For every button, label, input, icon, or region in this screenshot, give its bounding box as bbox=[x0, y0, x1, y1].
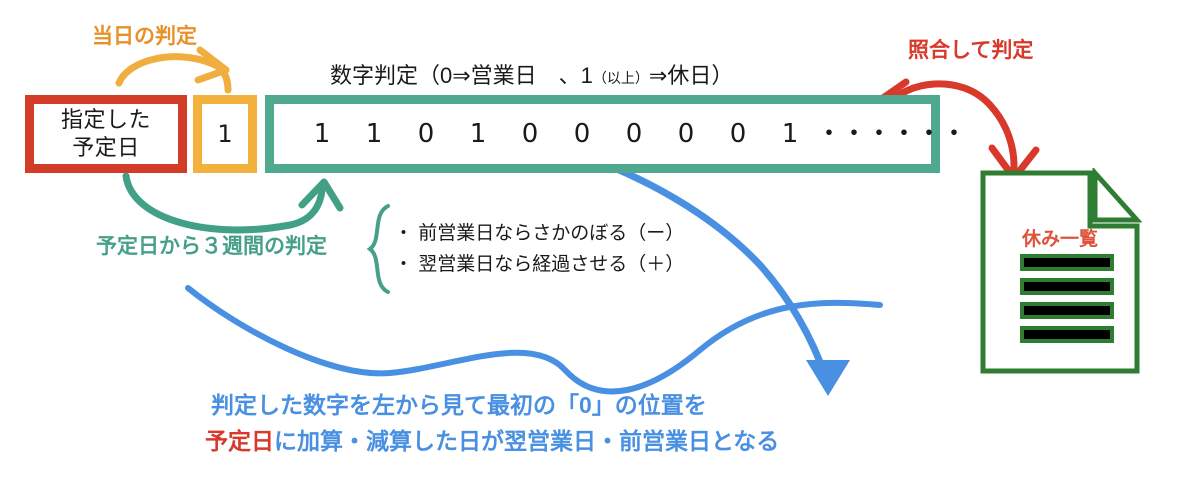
digit-cell: 0 bbox=[660, 119, 712, 149]
holiday-list-title: 休み一覧 bbox=[978, 224, 1142, 251]
bottom-caption-line-1: 判定した数字を左から見て最初の「0」の位置を bbox=[205, 388, 779, 424]
digit-cell: 1 bbox=[764, 119, 816, 149]
bottom-caption: 判定した数字を左から見て最初の「0」の位置を 予定日に加算・減算した日が翌営業日… bbox=[205, 388, 779, 459]
target-date-line-1: 指定した bbox=[61, 107, 151, 132]
digit-cell: 1 bbox=[452, 119, 504, 149]
rule-list: ・ 前営業日ならさかのぼる（ー）・ 翌営業日なら経過させる（＋） bbox=[394, 218, 684, 281]
digit-ellipsis-dot: ・ bbox=[891, 129, 916, 139]
bottom-caption-line-2-rest: に加算・減算した日が翌営業日・前営業日となる bbox=[274, 428, 779, 454]
digit-ellipsis-dot: ・ bbox=[941, 129, 966, 139]
digit-ellipsis-dot: ・ bbox=[841, 129, 866, 139]
bottom-caption-red-term: 予定日 bbox=[205, 428, 274, 454]
digit-cell: 1 bbox=[296, 119, 348, 149]
digit-strip-title-head: 数字判定（0⇒営業日 、1 bbox=[330, 63, 593, 88]
today-judgement-label: 当日の判定 bbox=[92, 20, 197, 50]
target-date-line-2: 予定日 bbox=[72, 135, 140, 160]
rule-item: ・ 前営業日ならさかのぼる（ー） bbox=[394, 218, 684, 249]
today-flag-box: 1 bbox=[193, 95, 257, 173]
holiday-list-document: 休み一覧 bbox=[978, 168, 1142, 376]
digit-cell: 0 bbox=[400, 119, 452, 149]
digit-cell: 0 bbox=[504, 119, 556, 149]
digit-strip-title: 数字判定（0⇒営業日 、1（以上）⇒休日） bbox=[330, 58, 733, 90]
bottom-caption-line-2: 予定日に加算・減算した日が翌営業日・前営業日となる bbox=[205, 424, 779, 460]
digit-cell: 0 bbox=[712, 119, 764, 149]
digit-cell: 1 bbox=[348, 119, 400, 149]
collate-and-judge-label: 照合して判定 bbox=[908, 34, 1033, 64]
rule-brace bbox=[370, 206, 388, 292]
digit-ellipsis-dot: ・ bbox=[816, 129, 841, 139]
caption-sweep bbox=[188, 288, 880, 391]
target-date-box: 指定した 予定日 bbox=[25, 95, 187, 173]
document-icon bbox=[978, 168, 1142, 376]
digit-strip-box: 1101000001・・・・・・ bbox=[265, 95, 940, 173]
rule-item: ・ 翌営業日なら経過させる（＋） bbox=[394, 249, 684, 280]
diagram-canvas: 指定した 予定日 1 1101000001・・・・・・ 数字判定（0⇒営業日 、… bbox=[0, 0, 1200, 492]
target-date-label: 指定した 予定日 bbox=[61, 106, 151, 162]
digit-ellipsis-dot: ・ bbox=[866, 129, 891, 139]
digit-strip-title-tail: ⇒休日） bbox=[649, 63, 733, 88]
digit-ellipsis-dot: ・ bbox=[916, 129, 941, 139]
digit-strip-title-small: （以上） bbox=[593, 70, 649, 86]
digit-strip: 1101000001・・・・・・ bbox=[274, 119, 966, 149]
digit-cell: 0 bbox=[556, 119, 608, 149]
today-judgement-arrow bbox=[119, 50, 228, 90]
three-week-arrow bbox=[126, 176, 340, 230]
today-flag-value: 1 bbox=[217, 120, 232, 148]
three-week-judgement-label: 予定日から３週間の判定 bbox=[96, 230, 327, 260]
digit-cell: 0 bbox=[608, 119, 660, 149]
